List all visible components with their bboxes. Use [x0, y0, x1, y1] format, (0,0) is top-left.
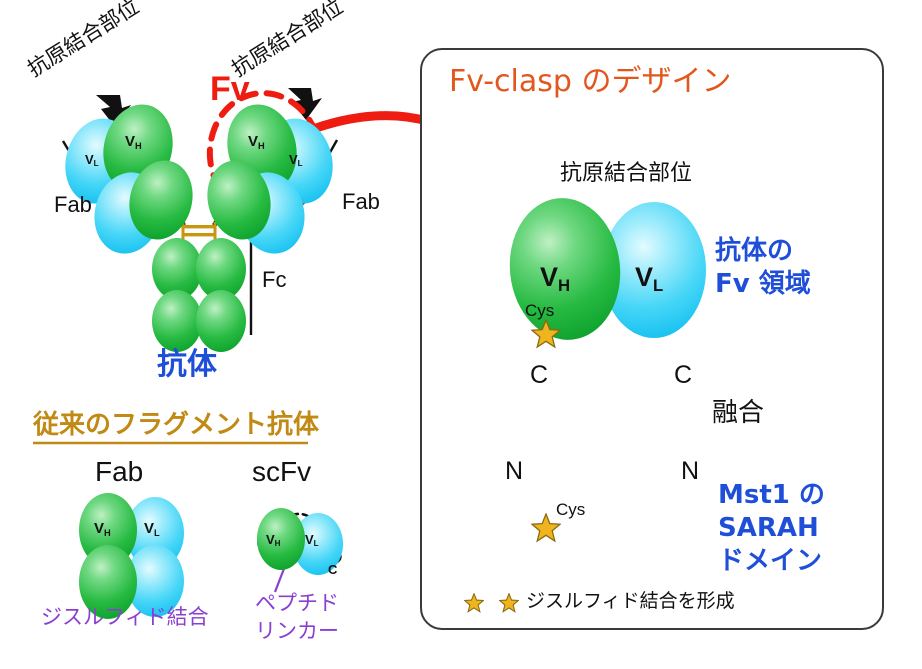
conventional-heading: 従来のフラグメント抗体 [33, 412, 319, 439]
antibody-right-vl-label: VL [289, 152, 303, 167]
scfv-section-title: scFv [252, 457, 311, 486]
fab-disulfide-annotation: ジスルフィド結合 [41, 606, 209, 628]
scfv-c-terminus-label: C [328, 563, 337, 577]
sarah-n-terminus-left: N [505, 458, 523, 484]
panel-c-terminus-right: C [674, 362, 692, 388]
fv-region-side-label-line1: 抗体の [715, 238, 793, 265]
legend-star-left-icon [464, 593, 484, 613]
sarah-n-terminus-right: N [681, 458, 699, 484]
hinge-disulfide-1 [182, 225, 216, 228]
fv-region-side-label-line2: Fv 領域 [715, 271, 811, 298]
fab-label-right: Fab [342, 190, 380, 213]
scfv-vl-label: VL [305, 532, 319, 547]
sarah-cys-star-icon [531, 513, 561, 543]
sarah-side-label-line3: ドメイン [718, 548, 822, 575]
antibody-left-vl-label: VL [85, 152, 99, 167]
antibody-fc-ch3-right [196, 290, 246, 352]
antibody-title-label: 抗体 [157, 349, 217, 381]
figure-canvas: VH VL VH VL 抗原結合部位 抗原結合部位 Fv Fab Fab Fc … [0, 0, 922, 669]
antibody-right-vh-label: VH [248, 133, 265, 150]
antigen-binding-site-label-right: 抗原結合部位 [228, 0, 347, 81]
sarah-side-label-line1: Mst1 の [718, 482, 825, 509]
hinge-disulfide-2 [182, 233, 216, 236]
scfv-linker-annotation-line1: ペプチド [255, 592, 339, 614]
panel-fv-cys-label: Cys [525, 302, 554, 320]
fab-section-title: Fab [95, 457, 143, 486]
antigen-binding-site-label-left: 抗原結合部位 [24, 0, 143, 81]
panel-vh-label: VH [540, 262, 570, 293]
scfv-linker-annotation-line2: リンカー [255, 620, 339, 642]
scfv-vh-label: VH [266, 532, 280, 547]
fab-label-left: Fab [54, 193, 92, 216]
fv-cys-star-icon [531, 319, 561, 349]
fusion-label: 融合 [712, 400, 764, 427]
legend-star-right-icon [499, 593, 519, 613]
panel-vl-label: VL [635, 262, 663, 293]
fab-vh-label: VH [94, 520, 111, 537]
panel-c-terminus-left: C [530, 362, 548, 388]
panel-antigen-binding-site-label: 抗原結合部位 [560, 162, 692, 185]
antibody-left-vh-label: VH [125, 133, 142, 150]
antigen-arrow-right [288, 88, 322, 120]
panel-title: Fv-clasp のデザイン [449, 66, 731, 98]
fv-callout-label: Fv [210, 72, 250, 108]
fc-label: Fc [262, 268, 286, 291]
legend-text: ジスルフィド結合を形成 [526, 592, 735, 612]
fab-vl-label: VL [144, 520, 160, 537]
scfv-vh-blob [257, 508, 305, 570]
sarah-side-label-line2: SARAH [718, 515, 819, 542]
antibody-fc-ch3-left [152, 290, 202, 352]
